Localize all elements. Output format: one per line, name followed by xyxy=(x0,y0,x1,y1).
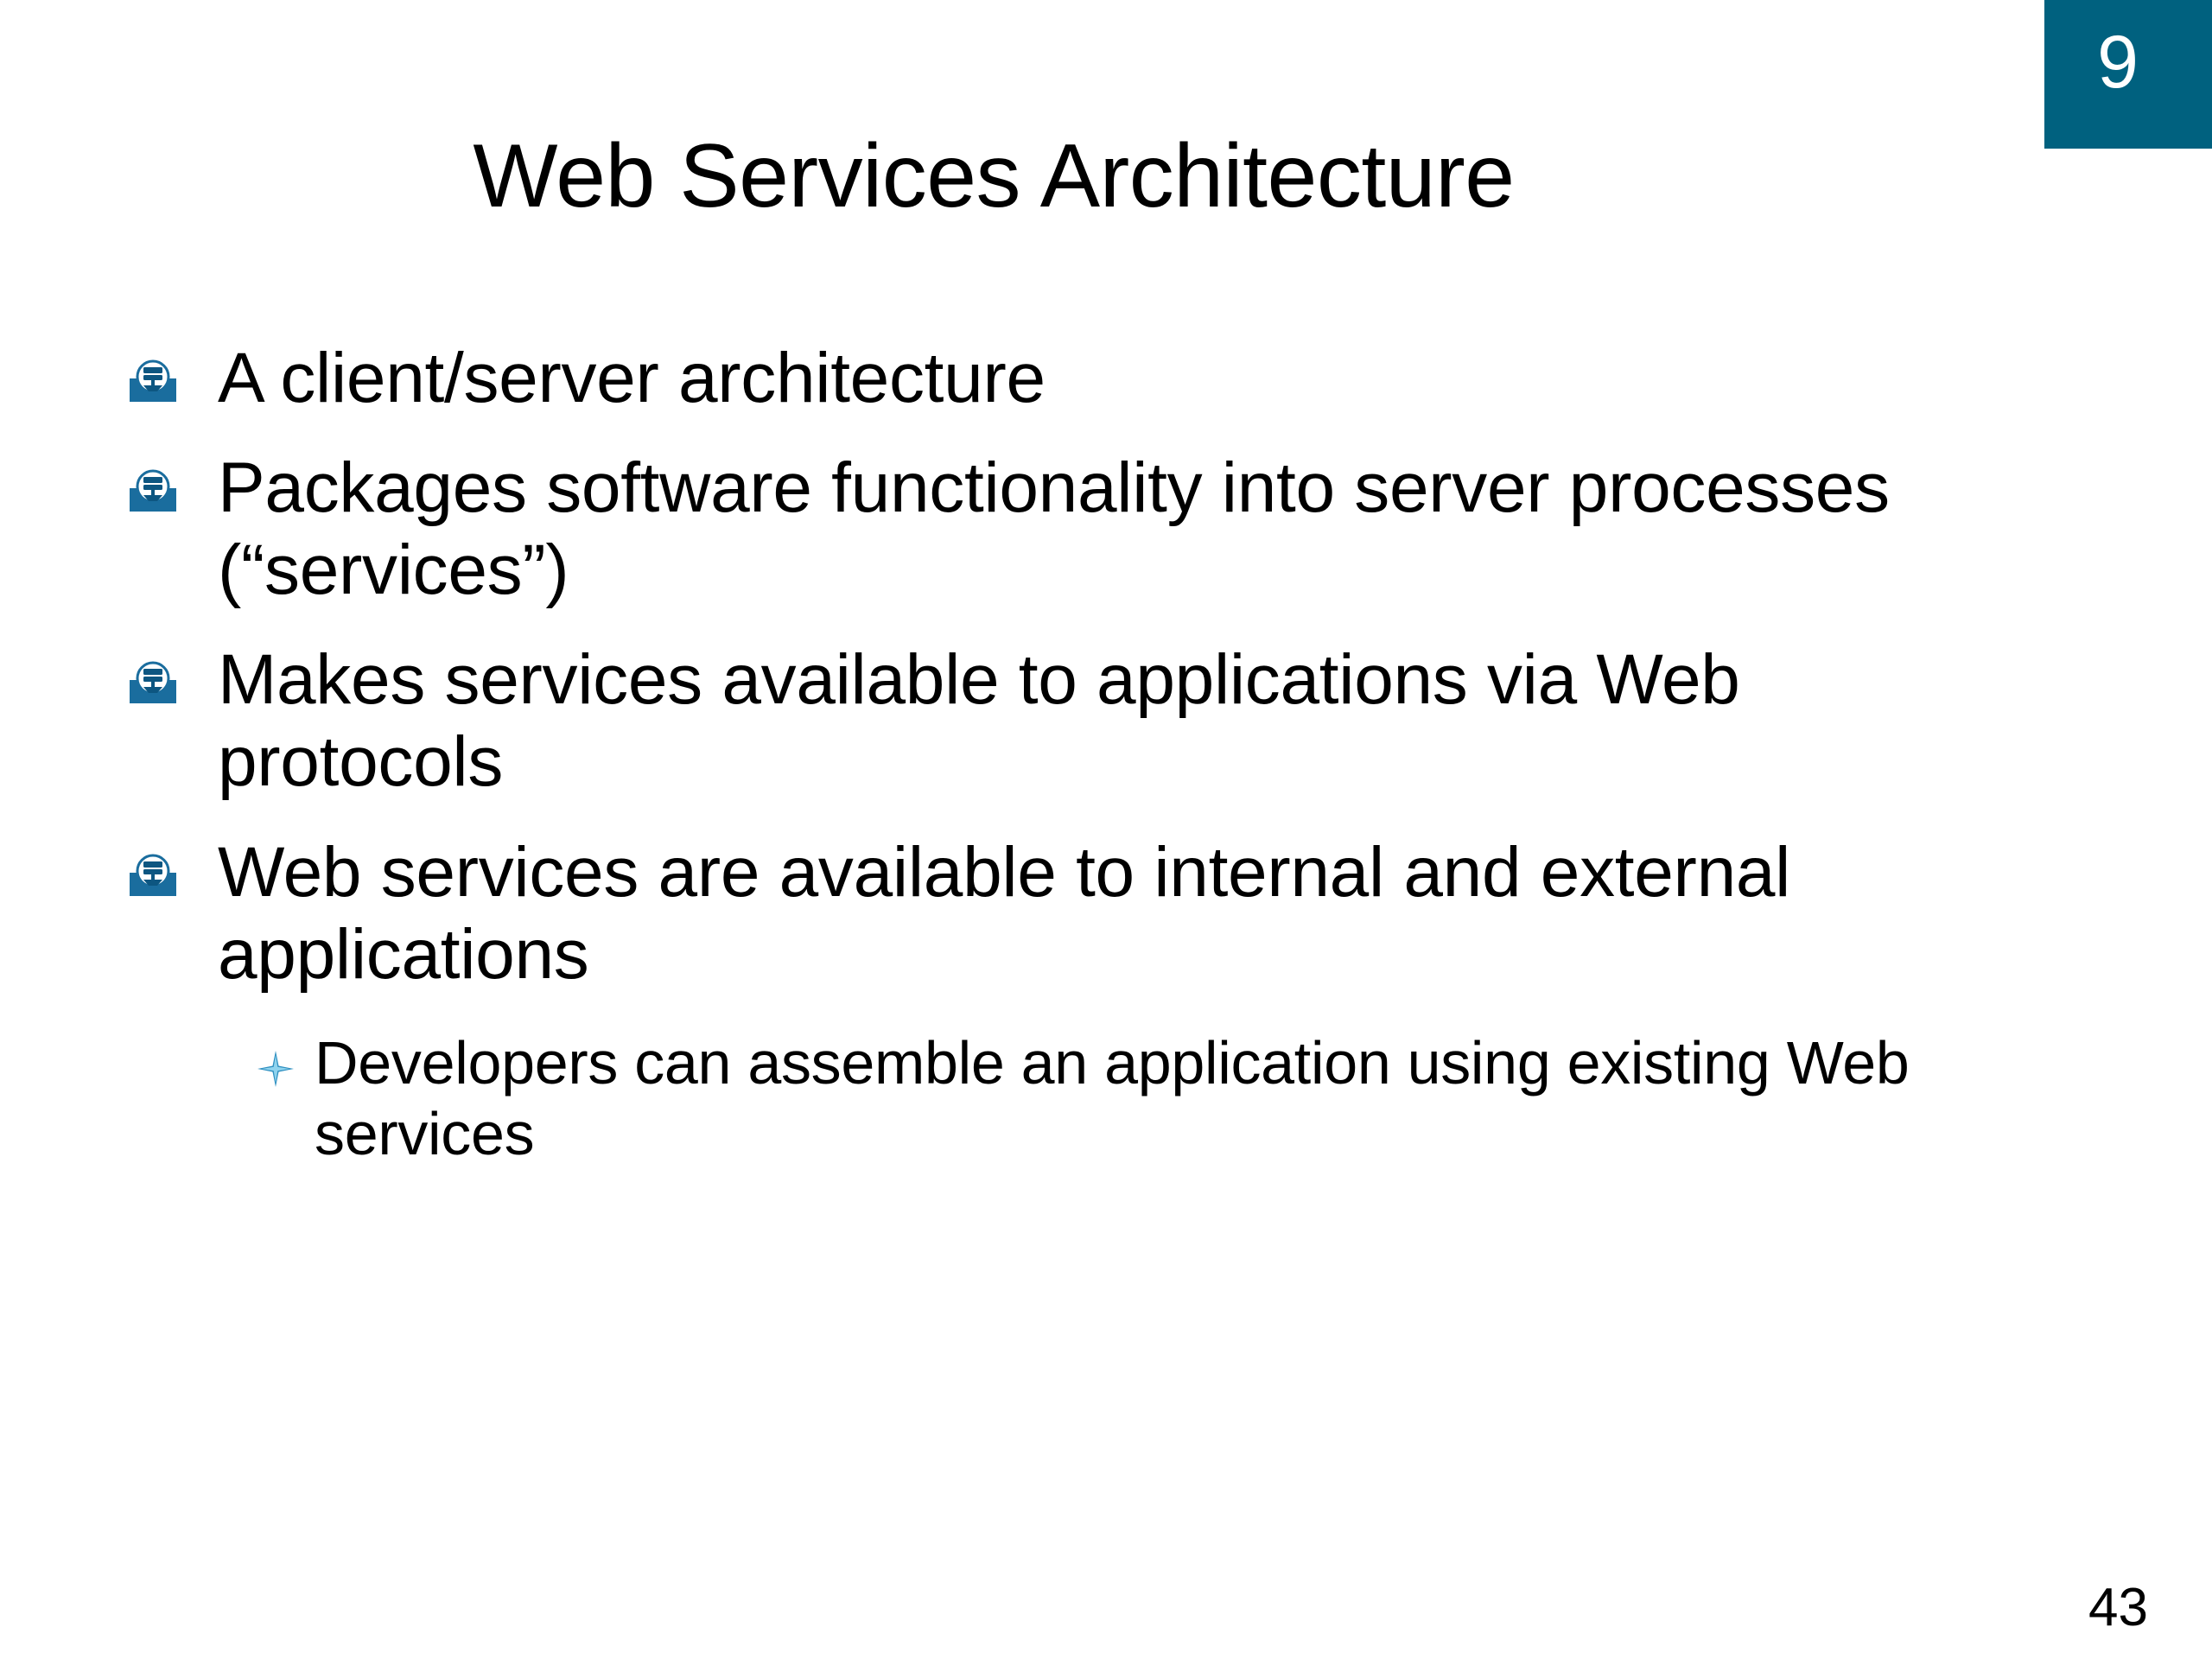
bullet-list: A client/server architecture Packages so… xyxy=(121,337,2108,1170)
bullet-marker xyxy=(121,447,218,516)
bullet-marker xyxy=(121,337,218,406)
bullet-marker xyxy=(249,1028,315,1089)
slide-number-badge-text: 9 xyxy=(2097,25,2139,99)
list-item: A client/server architecture xyxy=(121,337,2108,419)
slide-number-badge: 9 xyxy=(2044,0,2212,149)
server-bullet-icon xyxy=(126,654,180,708)
page-title: Web Services Architecture xyxy=(0,130,1987,224)
list-item: Packages software functionality into ser… xyxy=(121,447,2108,611)
list-item-label: Packages software functionality into ser… xyxy=(218,447,1955,611)
list-item: Web services are available to internal a… xyxy=(121,831,2108,995)
bullet-marker xyxy=(121,639,218,708)
server-bullet-icon xyxy=(126,353,180,406)
list-item-label: Web services are available to internal a… xyxy=(218,831,1955,995)
server-bullet-icon xyxy=(126,847,180,900)
list-item-label: A client/server architecture xyxy=(218,337,1955,419)
four-point-star-bullet-icon xyxy=(256,1049,296,1089)
list-item-label: Makes services available to applications… xyxy=(218,639,1955,803)
list-item: Developers can assemble an application u… xyxy=(121,1028,2108,1170)
page-number: 43 xyxy=(2088,1581,2148,1635)
list-item: Makes services available to applications… xyxy=(121,639,2108,803)
slide-canvas: 9 Web Services Architecture A client/ser… xyxy=(0,0,2212,1659)
bullet-marker xyxy=(121,831,218,900)
list-item-label: Developers can assemble an application u… xyxy=(315,1028,2008,1170)
server-bullet-icon xyxy=(126,462,180,516)
